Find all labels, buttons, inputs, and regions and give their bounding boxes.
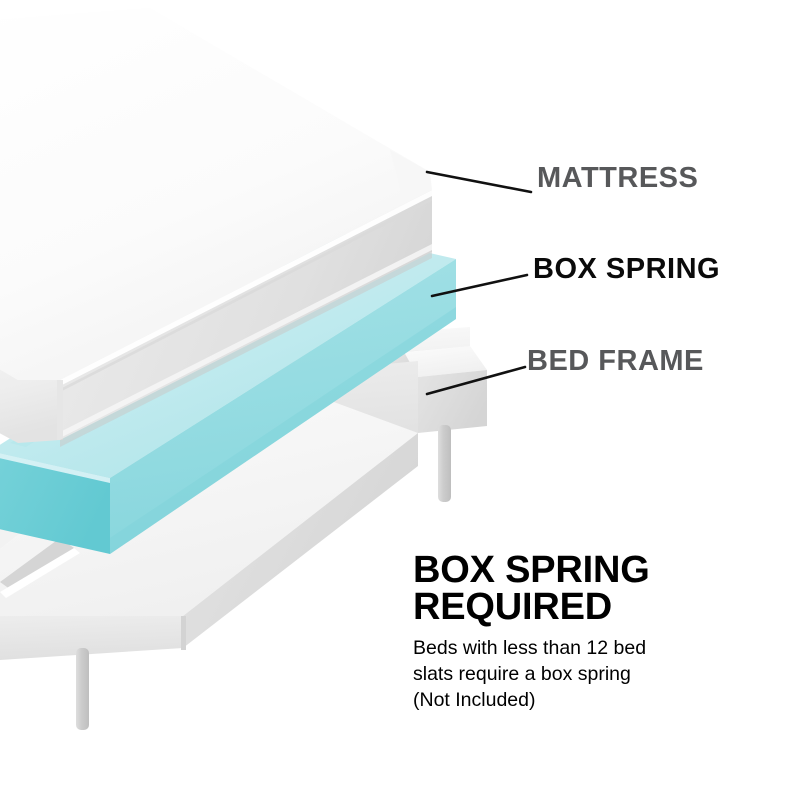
promo-heading-line-2: REQUIRED [413,589,785,626]
bed-frame-corner-edge [181,616,186,650]
bed-frame-leg-right [438,425,451,502]
promo-body-line-1: Beds with less than 12 bed [413,635,785,661]
product-diagram-canvas: MATTRESS BOX SPRING BED FRAME BOX SPRING… [0,0,800,800]
callout-label-mattress: MATTRESS [537,164,698,193]
callout-label-bed-frame: BED FRAME [527,347,704,376]
promo-body-line-2: slats require a box spring [413,661,785,687]
promo-text-block: BOX SPRING REQUIRED Beds with less than … [413,552,785,714]
bed-frame-leg-near [76,648,89,730]
mattress-corner-seam [57,380,63,440]
callout-label-box-spring: BOX SPRING [533,255,720,284]
promo-body-line-3: (Not Included) [413,687,785,713]
promo-body: Beds with less than 12 bed slats require… [413,635,785,714]
leader-line-mattress [427,172,531,192]
bed-frame-near-rail-face [0,616,183,660]
promo-heading-line-1: BOX SPRING [413,552,785,589]
